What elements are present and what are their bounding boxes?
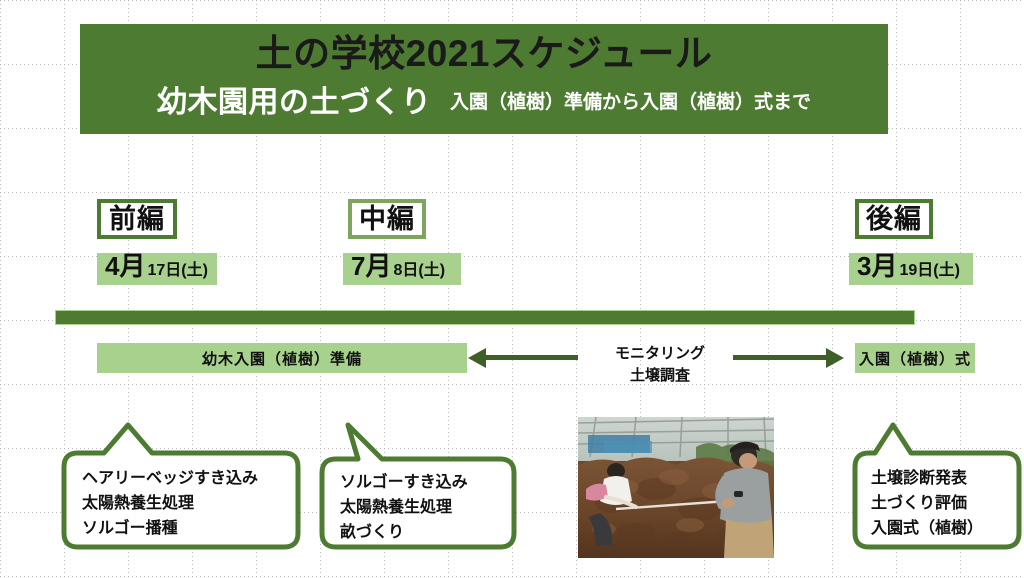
date-month-first: 4月	[105, 253, 145, 279]
date-chip-last: 3月 19日(土)	[849, 253, 973, 285]
phase-chip-last[interactable]: 後編	[855, 199, 933, 239]
callout-last-line3: 入園式（植樹）	[871, 517, 983, 542]
slide-canvas: 土の学校2021スケジュール 幼木園用の土づくり 入園（植樹）準備から入園（植樹…	[0, 0, 1024, 578]
header-subtitle-main: 幼木園用の土づくり	[157, 86, 432, 119]
callout-last[interactable]: 土壌診断発表 土づくり評価 入園式（植樹）	[851, 411, 1019, 551]
monitoring-label: モニタリング 土壌調査	[585, 343, 735, 387]
page-title: 土の学校2021スケジュール	[80, 33, 888, 76]
monitoring-label-line2: 土壌調査	[585, 365, 735, 387]
callout-first-line3: ソルゴー播種	[82, 517, 258, 542]
stage-bar-prep: 幼木入園（植樹）準備	[97, 343, 467, 373]
phase-chip-middle[interactable]: 中編	[348, 199, 426, 239]
arrow-right-line	[733, 355, 826, 360]
date-day-first: 17日(土)	[147, 263, 207, 279]
header-subtitle-row: 幼木園用の土づくり 入園（植樹）準備から入園（植樹）式まで	[80, 86, 888, 121]
phase-chip-first[interactable]: 前編	[97, 199, 177, 239]
callout-last-line1: 土壌診断発表	[871, 467, 983, 492]
date-chip-middle: 7月 8日(土)	[343, 253, 461, 285]
date-day-middle: 8日(土)	[393, 263, 445, 279]
callout-first[interactable]: ヘアリーベッジすき込み 太陽熱養生処理 ソルゴー播種	[60, 411, 298, 551]
callout-middle-line2: 太陽熱養生処理	[340, 496, 468, 521]
monitoring-label-line1: モニタリング	[585, 343, 735, 365]
callout-last-text: 土壌診断発表 土づくり評価 入園式（植樹）	[871, 467, 983, 541]
header-banner: 土の学校2021スケジュール 幼木園用の土づくり 入園（植樹）準備から入園（植樹…	[80, 24, 888, 134]
callout-last-line2: 土づくり評価	[871, 492, 983, 517]
arrow-left-icon	[468, 348, 486, 368]
callout-first-text: ヘアリーベッジすき込み 太陽熱養生処理 ソルゴー播種	[82, 467, 258, 541]
callout-first-line2: 太陽熱養生処理	[82, 492, 258, 517]
callout-middle[interactable]: ソルゴーすき込み 太陽熱養生処理 畝づくり	[318, 411, 514, 551]
arrow-right-icon	[826, 348, 844, 368]
timeline-bar	[55, 310, 915, 325]
callout-first-line1: ヘアリーベッジすき込み	[82, 467, 258, 492]
soil-survey-photo	[578, 417, 774, 558]
date-month-middle: 7月	[351, 253, 391, 279]
stage-bar-ceremony: 入園（植樹）式	[855, 343, 975, 373]
date-chip-first: 4月 17日(土)	[97, 253, 217, 285]
header-subtitle-note: 入園（植樹）準備から入園（植樹）式まで	[450, 92, 811, 113]
arrow-left-line	[485, 355, 578, 360]
date-day-last: 19日(土)	[899, 263, 959, 279]
callout-middle-text: ソルゴーすき込み 太陽熱養生処理 畝づくり	[340, 471, 468, 545]
soil-survey-photo-image	[578, 417, 774, 558]
callout-middle-line3: 畝づくり	[340, 521, 468, 546]
callout-middle-line1: ソルゴーすき込み	[340, 471, 468, 496]
date-month-last: 3月	[857, 253, 897, 279]
